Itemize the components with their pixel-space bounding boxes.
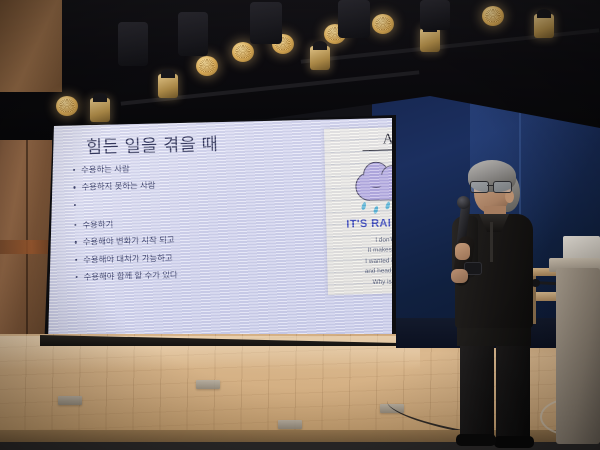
stage-light-icon [420,28,440,52]
stage-light-icon [158,74,178,98]
speaker-hand-lower [451,269,468,283]
stage-light-icon [56,96,78,116]
list-item: 수용해야 대처가 가능하고 [74,253,177,264]
stage-light-housing [118,22,148,66]
stage-light-icon [310,46,330,70]
list-item: 수용하기 [73,218,176,229]
stage-light-housing [338,0,370,38]
floor-socket-box [196,380,220,389]
slide-bullet-list: 수용하는 사람 수용하지 못하는 사람 수용하기 수용해야 변화가 시작 되고 … [72,164,178,291]
stage-light-housing [178,12,208,56]
glasses-bridge [487,185,493,186]
list-item: 수용하지 못하는 사람 [72,181,175,192]
slide-title: 힘든 일을 겪을 때 [86,131,219,159]
list-item: 수용해야 변화가 시작 되고 [74,236,177,247]
stage-light-housing [420,0,450,30]
stage-light-icon [534,14,554,38]
glasses-icon [470,181,512,192]
projection-screen: 힘든 일을 겪을 때 수용하는 사람 수용하지 못하는 사람 수용하기 수용해야… [48,118,392,344]
glasses-lens-right [493,181,512,193]
stage-light-housing [250,2,282,44]
cloud-fill [359,174,392,187]
speaker-leg-right [496,340,530,440]
microphone-head-icon [457,196,470,209]
note-line: Why is it raining ? [334,275,392,288]
stage-light-icon [372,14,394,34]
raining-label-left: IT'S RAINING [346,217,392,231]
stage-light-icon [482,6,504,26]
speaker-shoe-right [494,436,534,448]
acceptance-graphic: ACCEPTANCE IT'S RAINING I don't like rai… [324,123,392,295]
handwritten-note: I don't like rain. It makes me gloomy. I… [333,234,392,289]
list-item: 수용해야 함께 할 수가 있다 [75,271,178,282]
podium [556,268,600,444]
floor-socket-box [58,396,82,405]
ceiling-wood-edge [0,0,62,92]
glasses-lens-left [470,181,489,193]
shirt-placket [490,222,493,262]
presentation-photo: 힘든 일을 겪을 때 수용하는 사람 수용하지 못하는 사람 수용하기 수용해야… [0,0,600,450]
stage-light-icon [90,98,110,122]
speaker-hand-upper [455,243,470,260]
stage-light-icon [196,56,218,76]
speaker-shoe-left [456,434,496,446]
list-item: 수용하는 사람 [72,164,175,175]
bullet-spacer [73,198,176,211]
note-line: It makes me gloomy. [333,244,392,257]
speaker-leg-left [460,340,494,440]
wall-accent-band [0,240,52,254]
stage-light-icon [232,42,254,62]
floor-socket-box [278,420,302,429]
note-line: and head to the beach. [333,265,392,278]
